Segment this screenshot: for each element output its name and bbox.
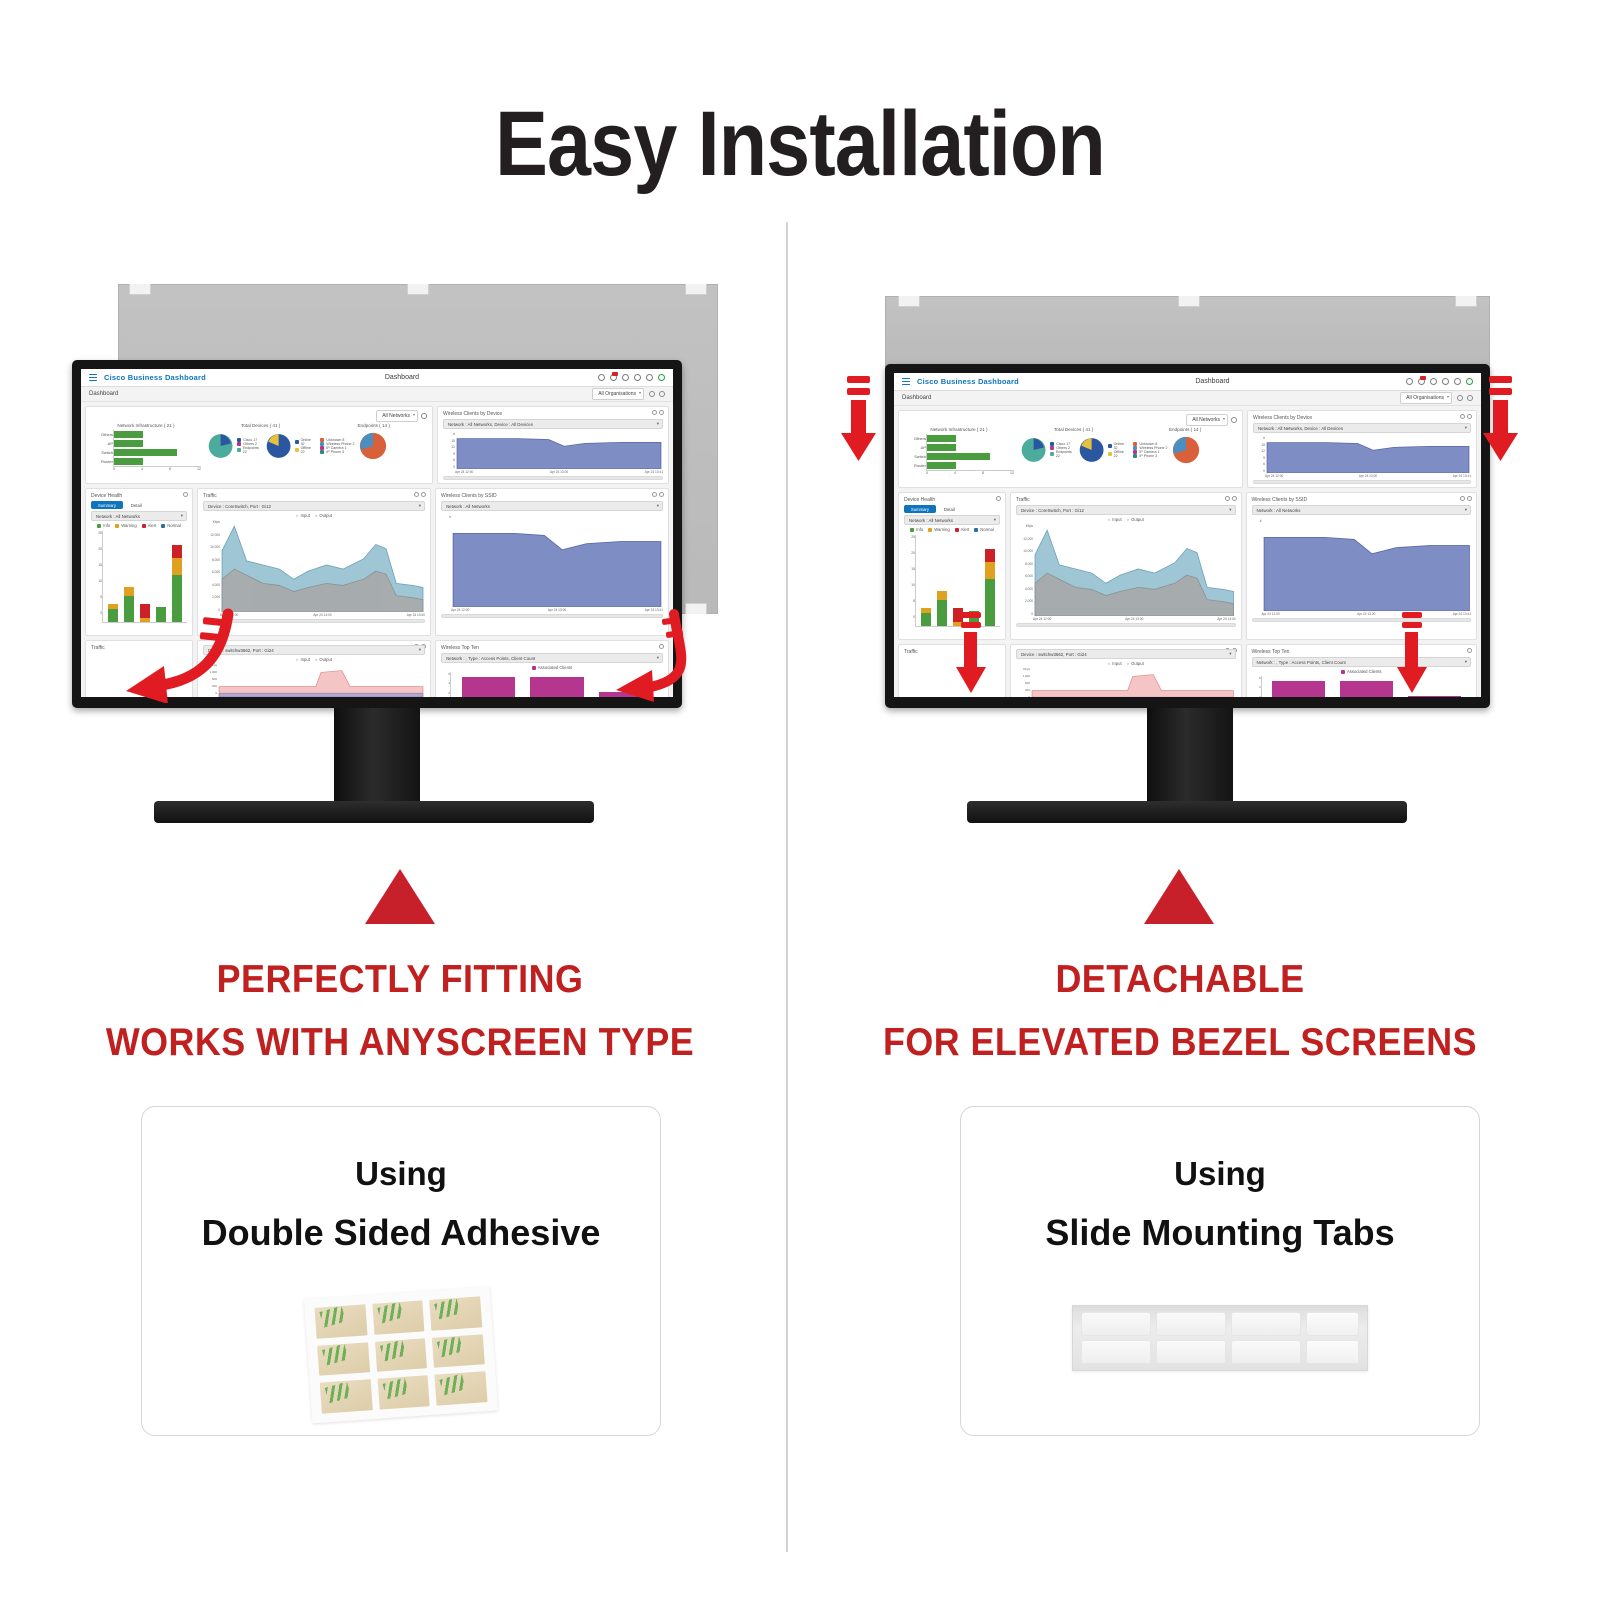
hamburger-menu-icon[interactable] <box>902 378 910 385</box>
monitor-base <box>154 801 594 823</box>
y-tick: 6 <box>1252 676 1261 680</box>
y-tick: 10,000 <box>1016 549 1033 553</box>
filter-tab <box>898 296 920 307</box>
chart-scrollbar[interactable] <box>443 476 663 480</box>
arrow-dash <box>1402 612 1422 618</box>
chart-title: Endpoints ( 14 ) <box>1133 427 1237 432</box>
legend-item: Offline 22 <box>1114 450 1128 458</box>
bar <box>114 458 143 465</box>
refresh-icon[interactable] <box>996 496 1001 501</box>
x-tick: 8 <box>169 467 171 471</box>
marker-left <box>355 855 445 935</box>
using-label: Using <box>142 1155 660 1193</box>
pie-chart <box>1171 435 1201 465</box>
bar-label: Router <box>904 461 926 470</box>
legend-item: Alert <box>961 527 970 532</box>
bar <box>1272 681 1325 697</box>
arrow-dash <box>961 622 981 628</box>
pie-chart <box>1078 435 1105 465</box>
bar <box>927 435 956 442</box>
legend-item: Endpoints 22 <box>1056 450 1075 458</box>
dashboard-row-2: Device Health Summary Detail Network : A… <box>898 492 1477 640</box>
bar-label: AP <box>904 443 926 452</box>
x-tick: Apr 24 12:00 <box>455 470 473 474</box>
topbar-icons <box>598 374 665 381</box>
y-tick: 6 <box>441 672 450 676</box>
straight-red-arrow-down-icon <box>955 632 987 694</box>
chart-endpoints: Endpoints ( 14 ) Unknown 8 Wireless Phon… <box>1133 427 1237 475</box>
refresh-icon[interactable] <box>1467 395 1473 401</box>
right-caption-line1: DETACHABLE <box>812 958 1548 1002</box>
y-tick: 4,000 <box>203 583 220 587</box>
legend-item: Offline 22 <box>301 446 315 454</box>
x-tick: Apr 24 13:00 <box>548 608 566 612</box>
traffic-bottom-filter[interactable]: Device : switchw3662, Port : Gi24 <box>1016 649 1236 659</box>
legend-item: IP Phone 3 <box>326 450 344 454</box>
left-caption-line2: WORKS WITH ANYSCREEN TYPE <box>32 1021 768 1065</box>
refresh-icon[interactable] <box>183 492 188 497</box>
chart-scrollbar[interactable] <box>1016 623 1236 627</box>
card-title: Traffic <box>203 493 425 499</box>
gear-icon[interactable] <box>649 391 655 397</box>
card-wireless-clients-device: Wireless Clients by Device Network : All… <box>1247 410 1477 488</box>
card-wireless-top-ten: Wireless Top Ten Network : , Type : Acce… <box>1246 644 1478 697</box>
app-brand: Cisco Business Dashboard <box>917 377 1019 386</box>
chart-title: Total Devices ( 41 ) <box>1020 427 1127 432</box>
pie-chart <box>1020 435 1047 465</box>
y-tick: 0 <box>91 611 102 615</box>
adhesive-pad <box>435 1371 488 1405</box>
tab-summary[interactable]: Summary <box>91 501 123 509</box>
card-title: Wireless Clients by SSID <box>441 493 663 499</box>
pie-chart <box>358 431 388 461</box>
filter-tab <box>1178 296 1200 307</box>
card-wireless-clients-device: Wireless Clients by Device Network : All… <box>437 406 669 484</box>
refresh-icon[interactable] <box>659 410 664 415</box>
refresh-icon[interactable] <box>421 492 426 497</box>
stacked-bar <box>921 608 931 626</box>
hamburger-menu-icon[interactable] <box>89 374 97 381</box>
bar-label: Others <box>91 430 113 439</box>
y-tick: 200 <box>1016 688 1030 692</box>
y-tick: 0 <box>1253 468 1265 475</box>
device-health-legend: Info Warning Alert Normal <box>904 527 1000 532</box>
legend-item: IP Phone 3 <box>1139 454 1157 458</box>
x-tick: 0 <box>113 467 115 471</box>
legend-item: Associated Clients <box>1347 669 1381 674</box>
card-title: Device Health <box>904 497 1000 503</box>
mounting-tab <box>1156 1340 1226 1364</box>
traffic-top-filter[interactable]: Device : CoreSwitch, Port : Gi12 <box>203 501 425 511</box>
notifications-icon[interactable] <box>610 374 617 381</box>
legend-item: Normal <box>167 523 181 528</box>
x-tick: Apr 24 12:00 <box>1262 612 1280 616</box>
adhesive-pad-sheet-icon <box>304 1287 498 1424</box>
card-title: Wireless Clients by Device <box>1253 415 1471 421</box>
arrow-dash <box>847 376 870 383</box>
network-filter-dropdown[interactable]: All Networks <box>376 410 418 422</box>
refresh-icon[interactable] <box>659 391 665 397</box>
legend-item: Info <box>103 523 110 528</box>
bar <box>927 462 956 469</box>
y-tick: 6,000 <box>203 570 220 574</box>
tab-summary[interactable]: Summary <box>904 505 936 513</box>
notifications-icon[interactable] <box>1418 378 1425 385</box>
stacked-bar <box>937 591 947 626</box>
stacked-bar <box>985 549 995 626</box>
refresh-icon[interactable] <box>659 492 664 497</box>
arrow-dash <box>1489 388 1512 395</box>
breadcrumb: Dashboard <box>902 395 931 401</box>
legend-item: Input <box>1112 517 1121 522</box>
bar <box>1408 696 1461 697</box>
dashboard-subbar: Dashboard All Organisations <box>81 387 673 402</box>
filter-tab <box>685 284 707 295</box>
y-tick: 15 <box>904 567 915 571</box>
wireless-ssid-filter[interactable]: Network : All Networks <box>441 501 663 511</box>
y-tick: 12,000 <box>203 533 220 537</box>
legend-item: Output <box>319 657 332 662</box>
info-icon[interactable] <box>646 374 653 381</box>
dashboard-row-1: All Networks Network Infrastructure ( 21… <box>898 410 1477 488</box>
x-tick: Apr 24 13:41 <box>1453 612 1471 616</box>
straight-red-arrow-down-icon <box>840 400 877 462</box>
bar <box>114 449 177 456</box>
y-tick: 15 <box>91 563 102 567</box>
y-tick: 6,000 <box>1016 574 1033 578</box>
y-tick: 20 <box>904 551 915 555</box>
network-filter-dropdown[interactable]: All Networks <box>1186 414 1228 426</box>
x-tick: 12 <box>1010 471 1014 475</box>
jobs-icon[interactable] <box>1430 378 1437 385</box>
device-health-legend: Info Warning Alert Normal <box>91 523 187 528</box>
area-chart <box>455 431 663 469</box>
y-tick: 4,000 <box>1016 587 1033 591</box>
curved-red-arrow-left-2 <box>590 608 720 703</box>
dashboard-subbar: Dashboard All Organisations <box>894 391 1481 406</box>
method-label: Slide Mounting Tabs <box>961 1212 1479 1254</box>
adhesive-pad <box>320 1380 373 1414</box>
jobs-icon[interactable] <box>622 374 629 381</box>
x-tick: Apr 24 12:00 <box>1265 474 1283 478</box>
card-device-health: Device Health Summary Detail Network : A… <box>898 492 1006 640</box>
bar-label: Switch <box>904 452 926 461</box>
axis-unit: Kbps <box>1016 524 1033 528</box>
subbar-icons <box>649 391 665 397</box>
mounting-tab <box>1306 1312 1359 1336</box>
y-tick: 10,000 <box>203 545 220 549</box>
org-filter-dropdown[interactable]: All Organisations <box>1400 392 1452 404</box>
straight-red-arrow-down-icon <box>1396 632 1428 694</box>
y-tick: 4 <box>441 681 450 685</box>
x-tick: 0 <box>926 471 928 475</box>
area-chart <box>220 520 425 612</box>
legend-item: Input <box>301 513 310 518</box>
wireless-device-filter[interactable]: Network : All Networks, Device : All Dev… <box>443 419 663 429</box>
left-info-card: Using Double Sided Adhesive <box>141 1106 661 1436</box>
right-caption-line2: FOR ELEVATED BEZEL SCREENS <box>812 1021 1548 1065</box>
y-tick: 0 <box>1016 612 1033 616</box>
mounting-tab <box>1231 1340 1301 1364</box>
info-icon[interactable] <box>1454 378 1461 385</box>
refresh-icon[interactable] <box>1467 648 1472 653</box>
bar-label: Others <box>904 434 926 443</box>
left-panel: Cisco Business Dashboard Dashboard <box>0 0 800 1600</box>
mounting-tab <box>1081 1312 1151 1336</box>
gear-icon[interactable] <box>652 410 657 415</box>
gear-icon[interactable] <box>1460 414 1465 419</box>
gear-icon[interactable] <box>652 492 657 497</box>
mounting-tab <box>1306 1340 1359 1364</box>
y-tick: 25 <box>904 535 915 539</box>
monitor-neck <box>334 708 420 806</box>
card-traffic-top: Traffic Device : CoreSwitch, Port : Gi12… <box>1010 492 1242 640</box>
x-tick: Apr 24 13:40 <box>407 613 425 617</box>
x-tick: Apr 24 12:00 <box>1033 617 1051 621</box>
axis-unit: Kbps <box>1016 667 1030 671</box>
bar-label: Router <box>91 457 113 466</box>
y-tick: 5 <box>904 599 915 603</box>
refresh-icon[interactable] <box>1467 414 1472 419</box>
x-tick: Apr 24 13:41 <box>645 470 663 474</box>
chart-scrollbar[interactable] <box>1253 480 1471 484</box>
subbar-icons <box>1457 395 1473 401</box>
legend-item: Online 32 <box>1114 442 1128 450</box>
card-inventory: All Networks Network Infrastructure ( 21… <box>898 410 1243 488</box>
card-title: Device Health <box>91 493 187 499</box>
area-chart <box>1265 435 1471 473</box>
account-icon[interactable] <box>1466 378 1473 385</box>
gear-icon[interactable] <box>414 492 419 497</box>
area-chart <box>1262 519 1472 611</box>
y-tick: 2,000 <box>203 595 220 599</box>
chart-title: Network Infrastructure ( 21 ) <box>91 423 201 428</box>
device-health-filter[interactable]: Network : All Networks <box>91 511 187 521</box>
x-tick: Apr 24 13:00 <box>550 470 568 474</box>
top-ten-legend: Associated Clients <box>1252 669 1472 674</box>
wireless-ssid-filter[interactable]: Network : All Networks <box>1252 505 1472 515</box>
legend-item: Normal <box>980 527 994 532</box>
adhesive-pad <box>375 1338 428 1372</box>
filter-tab <box>1455 296 1477 307</box>
chart-network-infrastructure: Network Infrastructure ( 21 ) Others AP … <box>91 423 201 471</box>
bar <box>114 440 143 447</box>
arrow-dash <box>1402 622 1422 628</box>
legend-item: Input <box>301 657 310 662</box>
gear-icon[interactable] <box>1225 496 1230 501</box>
arrow-dash <box>847 388 870 395</box>
y-tick: 0 <box>1016 695 1030 697</box>
y-tick: 4 <box>1252 685 1261 689</box>
card-wireless-clients-ssid: Wireless Clients by SSID Network : All N… <box>1246 492 1478 640</box>
legend-item: Alert <box>148 523 157 528</box>
x-tick: 12 <box>197 467 201 471</box>
x-tick: Apr 24 12:00 <box>451 608 469 612</box>
adhesive-pad <box>315 1304 368 1338</box>
red-triangle-up-icon <box>365 869 435 924</box>
y-tick: 8,000 <box>1016 562 1033 566</box>
bar <box>530 677 584 697</box>
arrow-dash <box>1489 376 1512 383</box>
y-tick: 2 <box>441 691 450 695</box>
x-tick: Apr 24 13:40 <box>1217 617 1235 621</box>
traffic-legend: ○Input ○Output <box>1016 661 1236 666</box>
legend-item: Associated Clients <box>538 665 572 670</box>
gear-icon[interactable] <box>1457 395 1463 401</box>
legend-item: Online 32 <box>301 438 315 446</box>
x-tick: 8 <box>982 471 984 475</box>
chat-icon[interactable] <box>634 374 641 381</box>
x-tick: 4 <box>954 471 956 475</box>
wireless-top-ten-filter[interactable]: Network : , Type : Access Points, Client… <box>1252 657 1472 667</box>
right-info-card: Using Slide Mounting Tabs <box>960 1106 1480 1436</box>
left-caption-line1: PERFECTLY FITTING <box>32 958 768 1002</box>
using-label: Using <box>961 1155 1479 1193</box>
traffic-legend: ○Input ○Output <box>1016 517 1236 522</box>
topbar-icons <box>1406 378 1473 385</box>
traffic-legend: ○Input ○Output <box>203 513 425 518</box>
x-tick: Apr 24 13:00 <box>1359 474 1377 478</box>
chat-icon[interactable] <box>1442 378 1449 385</box>
legend-item: Warning <box>934 527 949 532</box>
legend-item: Input <box>1112 661 1121 666</box>
tab-detail[interactable]: Detail <box>126 501 147 509</box>
mounting-tab <box>1081 1340 1151 1364</box>
wireless-device-filter[interactable]: Network : All Networks, Device : All Dev… <box>1253 423 1471 433</box>
dashboard-topbar: Cisco Business Dashboard Dashboard <box>894 373 1481 391</box>
marker-right <box>1134 855 1224 935</box>
refresh-icon[interactable] <box>1232 496 1237 501</box>
chart-total-devices: Total Devices ( 41 ) Cisco 17 <box>1020 427 1127 475</box>
chart-endpoints: Endpoints ( 14 ) Unknown 8 Wireless Phon… <box>320 423 427 471</box>
x-tick: Apr 24 13:00 <box>1125 617 1143 621</box>
adhesive-pad <box>372 1300 425 1334</box>
red-triangle-up-icon <box>1144 869 1214 924</box>
bar <box>114 431 143 438</box>
y-tick: 0 <box>904 615 915 619</box>
refresh-icon[interactable] <box>1467 496 1472 501</box>
legend-item: Output <box>1131 517 1144 522</box>
chart-total-devices: Total Devices ( 41 ) Cisco 17 <box>207 423 314 471</box>
adhesive-pad <box>317 1342 370 1376</box>
chart-scrollbar[interactable] <box>1252 618 1472 622</box>
y-tick: 10 <box>904 583 915 587</box>
bar <box>927 444 956 451</box>
refresh-icon[interactable] <box>1231 417 1237 423</box>
area-chart <box>217 663 425 697</box>
dashboard-topbar: Cisco Business Dashboard Dashboard <box>81 369 673 387</box>
x-tick: 4 <box>141 467 143 471</box>
card-inventory: All Networks Network Infrastructure ( 21… <box>85 406 433 484</box>
traffic-top-filter[interactable]: Device : CoreSwitch, Port : Gi12 <box>1016 505 1236 515</box>
card-title: Wireless Clients by Device <box>443 411 663 417</box>
dashboard-row-1: All Networks Network Infrastructure ( 21… <box>85 406 669 484</box>
monitor-neck <box>1147 708 1233 806</box>
area-chart <box>1033 524 1236 616</box>
method-label: Double Sided Adhesive <box>142 1212 660 1254</box>
card-spacer: Traffic <box>898 644 1006 697</box>
arrow-dash <box>961 612 981 618</box>
account-icon[interactable] <box>658 374 665 381</box>
legend-item: Warning <box>121 523 136 528</box>
pie-chart <box>265 431 292 461</box>
chart-title: Network Infrastructure ( 21 ) <box>904 427 1014 432</box>
right-panel: Cisco Business Dashboard Dashboard Da <box>800 0 1600 1600</box>
y-tick: 12,000 <box>1016 537 1033 541</box>
adhesive-pad <box>432 1334 485 1368</box>
filter-tab <box>129 284 151 295</box>
chart-network-infrastructure: Network Infrastructure ( 21 ) Others AP … <box>904 427 1014 475</box>
y-tick: 8,000 <box>203 558 220 562</box>
legend-item: Output <box>319 513 332 518</box>
legend-item: Info <box>916 527 923 532</box>
area-chart <box>1030 667 1236 697</box>
bar <box>1340 681 1393 697</box>
y-tick: 0 <box>443 464 455 471</box>
adhesive-pad <box>430 1296 483 1330</box>
x-tick: Apr 24 13:00 <box>313 613 331 617</box>
monitor-base <box>967 801 1407 823</box>
breadcrumb: Dashboard <box>89 391 118 397</box>
org-filter-dropdown[interactable]: All Organisations <box>592 388 644 400</box>
adhesive-pad <box>377 1376 430 1410</box>
device-health-filter[interactable]: Network : All Networks <box>904 515 1000 525</box>
chart-title: Total Devices ( 41 ) <box>207 423 314 428</box>
bar <box>462 677 516 697</box>
app-brand: Cisco Business Dashboard <box>104 373 206 382</box>
bar <box>927 453 990 460</box>
page-heading: Dashboard <box>1026 378 1399 385</box>
x-tick: Apr 24 13:00 <box>1357 612 1375 616</box>
legend-item: Endpoints 22 <box>243 446 262 454</box>
area-chart <box>451 515 663 607</box>
card-title: Wireless Clients by SSID <box>1252 497 1472 503</box>
mounting-tab <box>1156 1312 1226 1336</box>
help-icon[interactable] <box>1406 378 1413 385</box>
y-tick: 25 <box>91 531 102 535</box>
x-tick: Apr 24 13:41 <box>1453 474 1471 478</box>
filter-tab <box>407 284 429 295</box>
bar-label: AP <box>91 439 113 448</box>
card-title: Traffic <box>1016 497 1236 503</box>
y-tick: 10 <box>91 579 102 583</box>
axis-unit: Kbps <box>203 520 220 524</box>
slide-mounting-tab-strip-icon <box>1072 1305 1368 1371</box>
card-title: Wireless Top Ten <box>1252 649 1472 655</box>
tab-detail[interactable]: Detail <box>939 505 960 513</box>
mounting-tab <box>1231 1312 1301 1336</box>
help-icon[interactable] <box>598 374 605 381</box>
chart-title: Endpoints ( 14 ) <box>320 423 427 428</box>
y-tick: 2 <box>1252 695 1261 697</box>
y-tick: 5 <box>91 595 102 599</box>
y-tick: 20 <box>91 547 102 551</box>
pie-chart <box>207 431 234 461</box>
bar-label: Switch <box>91 448 113 457</box>
gear-icon[interactable] <box>1460 496 1465 501</box>
y-tick: 1,000 <box>1016 674 1030 678</box>
card-traffic-bottom: Device : switchw3662, Port : Gi24 ○Input… <box>1010 644 1242 697</box>
page-heading: Dashboard <box>213 374 591 381</box>
refresh-icon[interactable] <box>421 413 427 419</box>
straight-red-arrow-down-icon <box>1482 400 1519 462</box>
legend-item: Output <box>1131 661 1144 666</box>
y-tick: 600 <box>1016 681 1030 685</box>
y-tick: 2,000 <box>1016 599 1033 603</box>
